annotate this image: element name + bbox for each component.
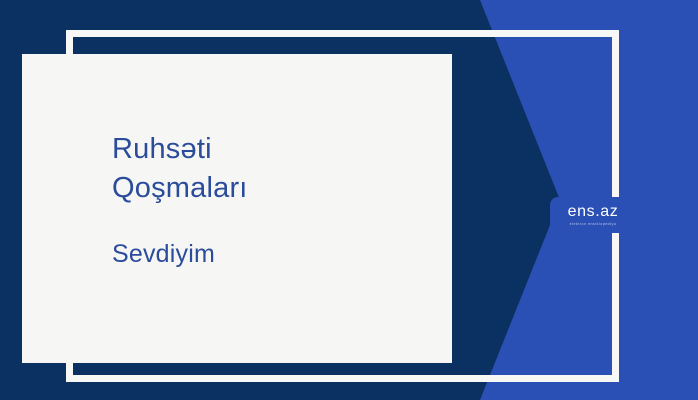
logo-wordmark-text: ens.az [568, 204, 619, 220]
logo-tagline-text: elektron ensiklopediya [570, 223, 617, 226]
page-title-line-1: Ruhsəti [112, 130, 432, 169]
page-title-line-2: Qoşmaları [112, 169, 432, 208]
banner-canvas: Ruhsəti Qoşmaları Sevdiyim ens.az elektr… [0, 0, 698, 400]
ens-az-logo-badge[interactable]: ens.az elektron ensiklopediya [550, 197, 636, 233]
card-text-block: Ruhsəti Qoşmaları Sevdiyim [112, 130, 432, 271]
page-subtitle: Sevdiyim [112, 238, 432, 271]
content-card: Ruhsəti Qoşmaları Sevdiyim [22, 54, 452, 363]
